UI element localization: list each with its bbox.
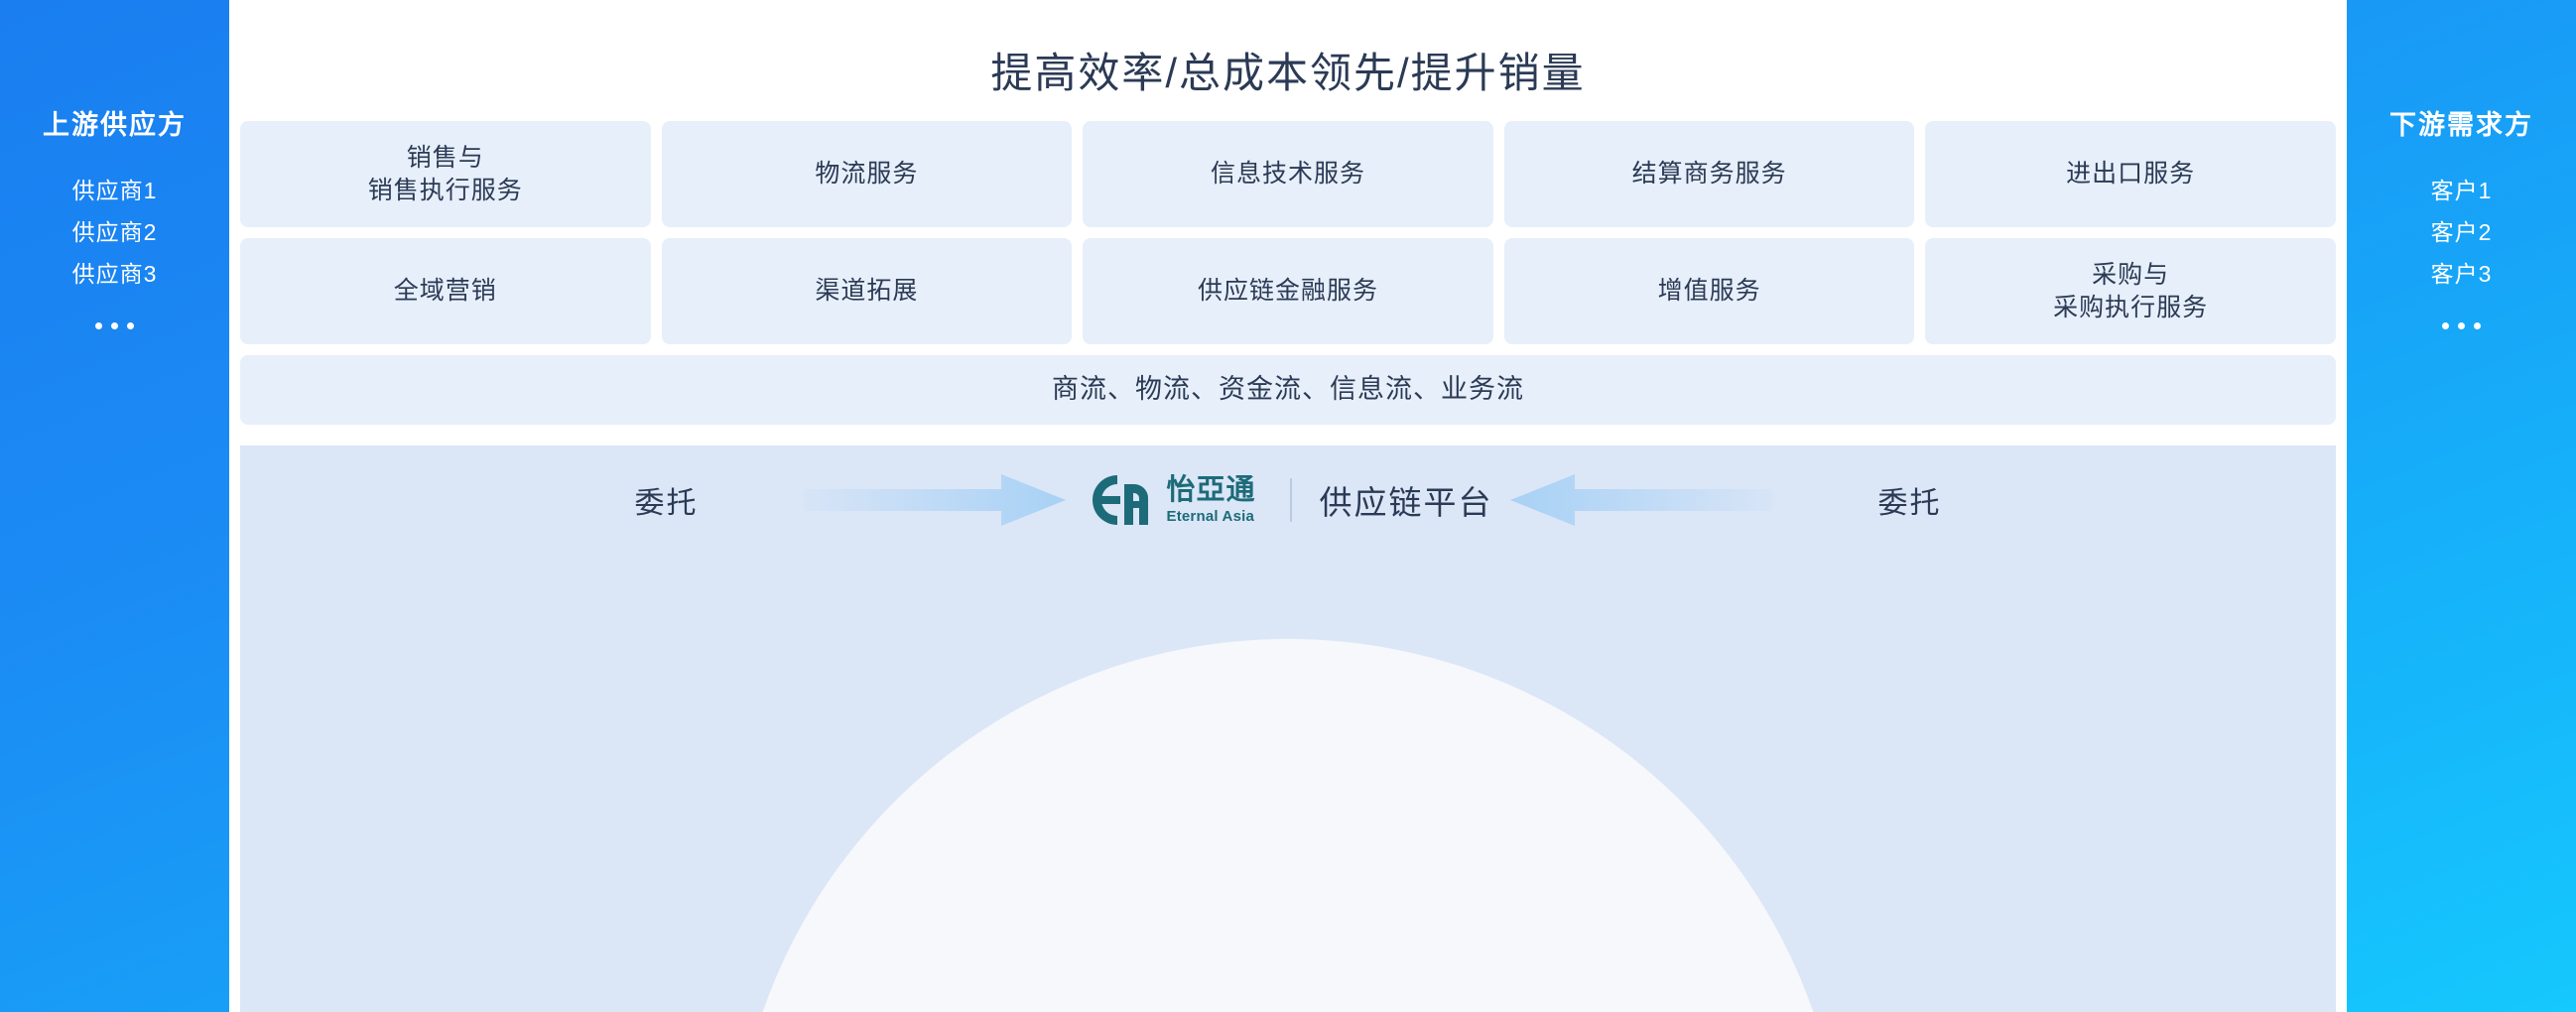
eternal-asia-logo: 怡亞通 Eternal Asia	[1083, 471, 1261, 529]
ea-monogram-icon	[1089, 471, 1150, 529]
flows-summary-bar: 商流、物流、资金流、信息流、业务流	[240, 355, 2336, 425]
platform-label: 供应链平台	[1320, 476, 1493, 524]
list-item: 供应商1	[72, 180, 158, 202]
service-card-logistics[interactable]: 物流服务	[662, 121, 1073, 227]
diagram-canvas: 上游供应方 供应商1 供应商2 供应商3 下游需求方 客户1 客户2 客户3 提…	[0, 0, 2576, 1012]
logo-chinese-name: 怡亞通	[1166, 476, 1255, 505]
list-item: 供应商2	[72, 221, 158, 244]
service-card-import-export[interactable]: 进出口服务	[1925, 121, 2336, 227]
platform-band-row: 委托	[240, 445, 2336, 555]
service-card-grid: 销售与销售执行服务 物流服务 信息技术服务 结算商务服务 进出口服务 全域营销 …	[240, 121, 2336, 425]
upstream-supplier-list: 供应商1 供应商2 供应商3	[72, 180, 158, 305]
service-card-settlement[interactable]: 结算商务服务	[1504, 121, 1915, 227]
downstream-customer-panel: 下游需求方 客户1 客户2 客户3	[2347, 0, 2576, 1012]
list-item: 客户1	[2431, 180, 2493, 202]
service-card-supply-chain-finance[interactable]: 供应链金融服务	[1083, 238, 1493, 344]
service-card-it[interactable]: 信息技术服务	[1083, 121, 1493, 227]
logo-divider	[1290, 478, 1292, 522]
arrow-left-icon	[1493, 474, 1791, 526]
upstream-supplier-panel: 上游供应方 供应商1 供应商2 供应商3	[0, 0, 229, 1012]
entrust-label-right: 委托	[1791, 478, 2029, 522]
band-arc-decoration	[732, 639, 1844, 1012]
list-item: 客户2	[2431, 221, 2493, 244]
page-title: 提高效率/总成本领先/提升销量	[229, 40, 2347, 100]
list-item: 供应商3	[72, 263, 158, 286]
service-card-procurement-execution[interactable]: 采购与采购执行服务	[1925, 238, 2336, 344]
service-row-3: 商流、物流、资金流、信息流、业务流	[240, 355, 2336, 425]
logo-wordmark: 怡亞通 Eternal Asia	[1166, 476, 1255, 524]
service-card-channel-expansion[interactable]: 渠道拓展	[662, 238, 1073, 344]
platform-band: 委托	[240, 445, 2336, 1012]
upstream-ellipsis-icon	[95, 322, 134, 329]
service-card-sales-execution[interactable]: 销售与销售执行服务	[240, 121, 651, 227]
downstream-customer-list: 客户1 客户2 客户3	[2431, 180, 2493, 305]
arrow-right-icon	[785, 474, 1083, 526]
entrust-label-left: 委托	[547, 478, 785, 522]
upstream-panel-title: 上游供应方	[43, 103, 187, 142]
service-card-value-added[interactable]: 增值服务	[1504, 238, 1915, 344]
list-item: 客户3	[2431, 263, 2493, 286]
center-panel: 提高效率/总成本领先/提升销量 销售与销售执行服务 物流服务 信息技术服务 结算…	[229, 0, 2347, 1012]
service-card-omni-marketing[interactable]: 全域营销	[240, 238, 651, 344]
downstream-ellipsis-icon	[2442, 322, 2481, 329]
downstream-panel-title: 下游需求方	[2389, 103, 2533, 142]
service-row-1: 销售与销售执行服务 物流服务 信息技术服务 结算商务服务 进出口服务	[240, 121, 2336, 227]
service-row-2: 全域营销 渠道拓展 供应链金融服务 增值服务 采购与采购执行服务	[240, 238, 2336, 344]
logo-english-name: Eternal Asia	[1166, 509, 1255, 524]
